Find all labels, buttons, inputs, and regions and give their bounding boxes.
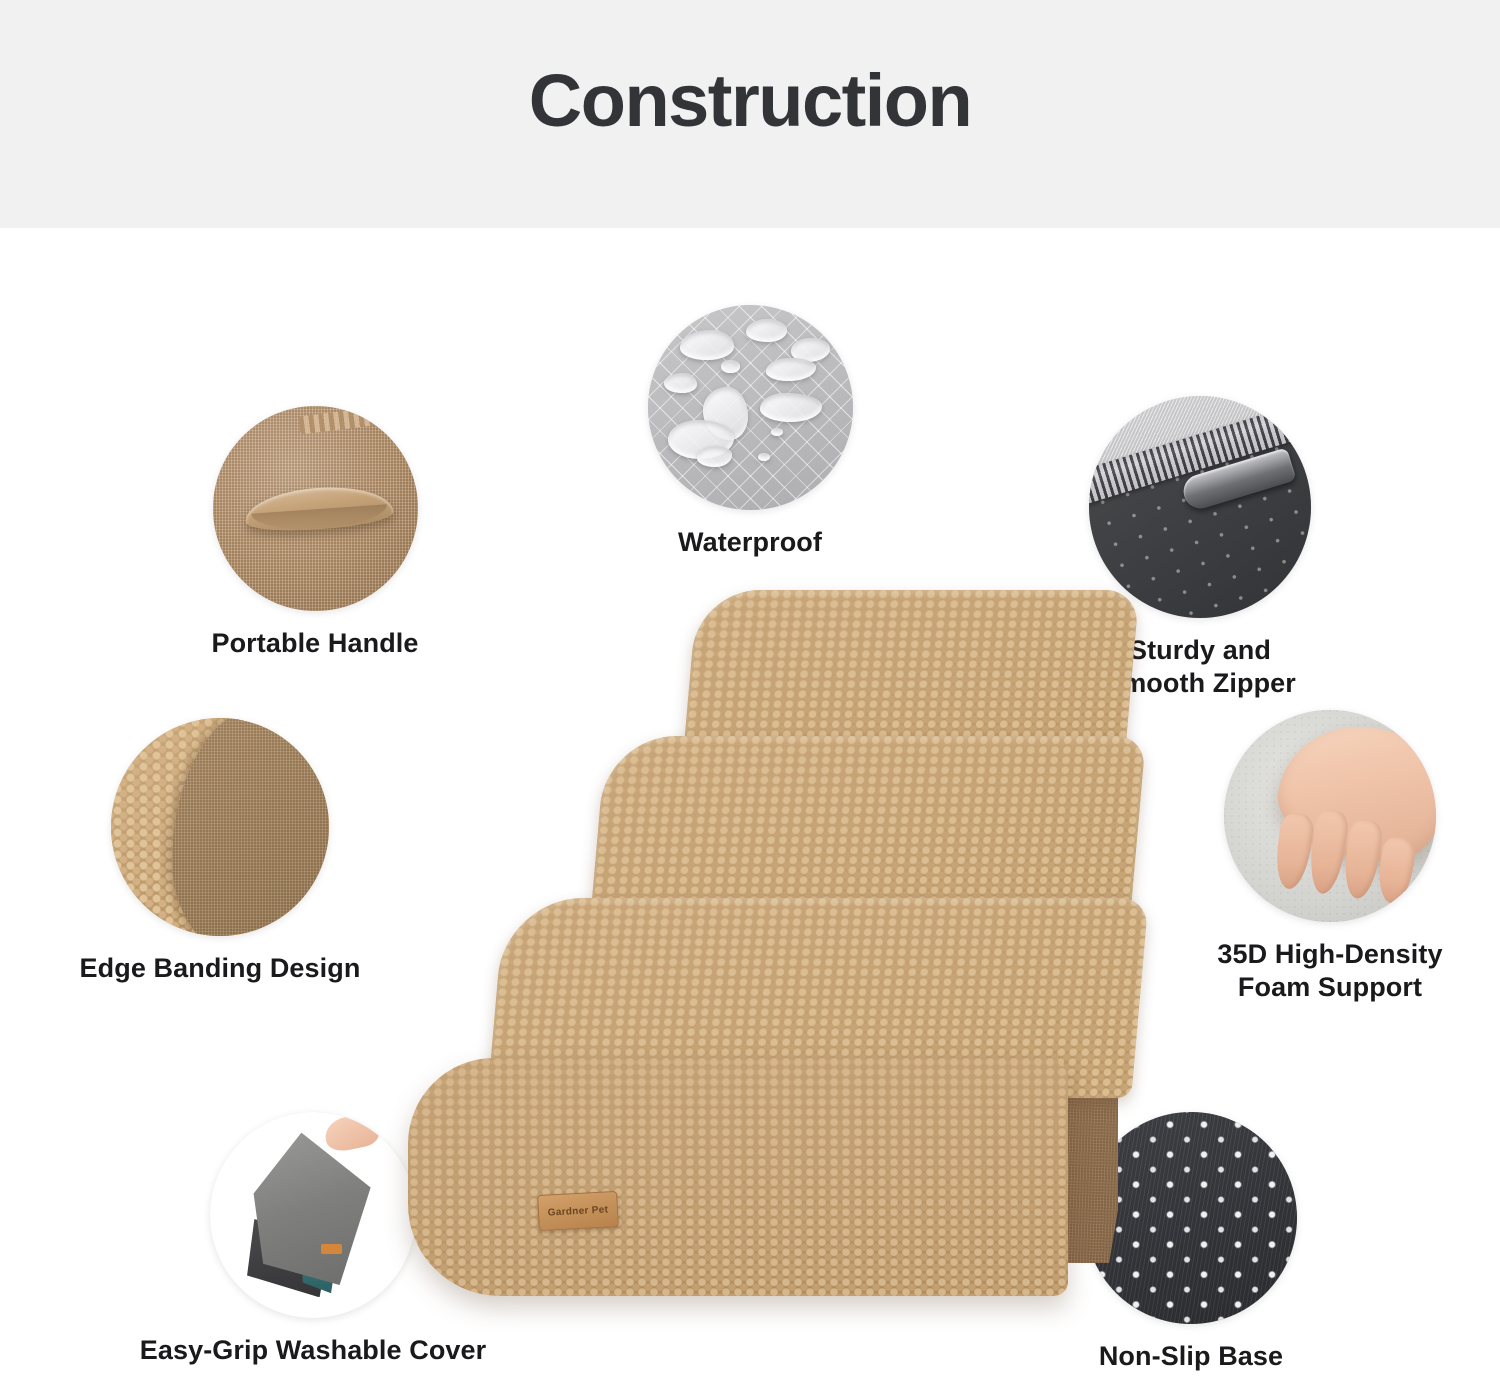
water-droplet [697,446,732,467]
product-image-pet-stairs: Gardner Pet [388,588,1118,1308]
page-title: Construction [529,64,971,138]
portable-handle-image [213,406,418,611]
feature-edge-banding-design: Edge Banding Design [70,718,370,985]
zipper-image [1089,396,1311,618]
feature-label-waterproof: Waterproof [625,526,875,559]
waterproof-image [648,305,853,510]
feature-label-foam-support: 35D High-Density Foam Support [1190,938,1470,1004]
brand-tag-text: Gardner Pet [547,1204,608,1218]
feature-foam-support: 35D High-Density Foam Support [1190,710,1470,1004]
foam-support-image [1224,710,1436,922]
edge-banding-image [111,718,329,936]
water-droplet [721,360,739,372]
feature-label-easy-grip-washable-cover: Easy-Grip Washable Cover [118,1334,508,1367]
product-step-top [683,590,1140,760]
feature-label-non-slip-base: Non-Slip Base [1060,1340,1322,1373]
water-droplet [680,330,733,361]
water-droplet [664,373,697,394]
brand-leather-tag: Gardner Pet [537,1191,619,1231]
product-front-face [408,1058,1068,1296]
feature-waterproof: Waterproof [625,305,875,559]
water-droplet [746,319,787,342]
product-step-middle [590,736,1146,922]
header-band: Construction [0,0,1500,228]
washable-cover-image [210,1112,416,1318]
water-droplet [771,428,783,436]
water-droplet [760,393,822,422]
feature-label-edge-banding-design: Edge Banding Design [70,952,370,985]
water-droplet [758,453,770,461]
brand-tab [321,1244,342,1254]
